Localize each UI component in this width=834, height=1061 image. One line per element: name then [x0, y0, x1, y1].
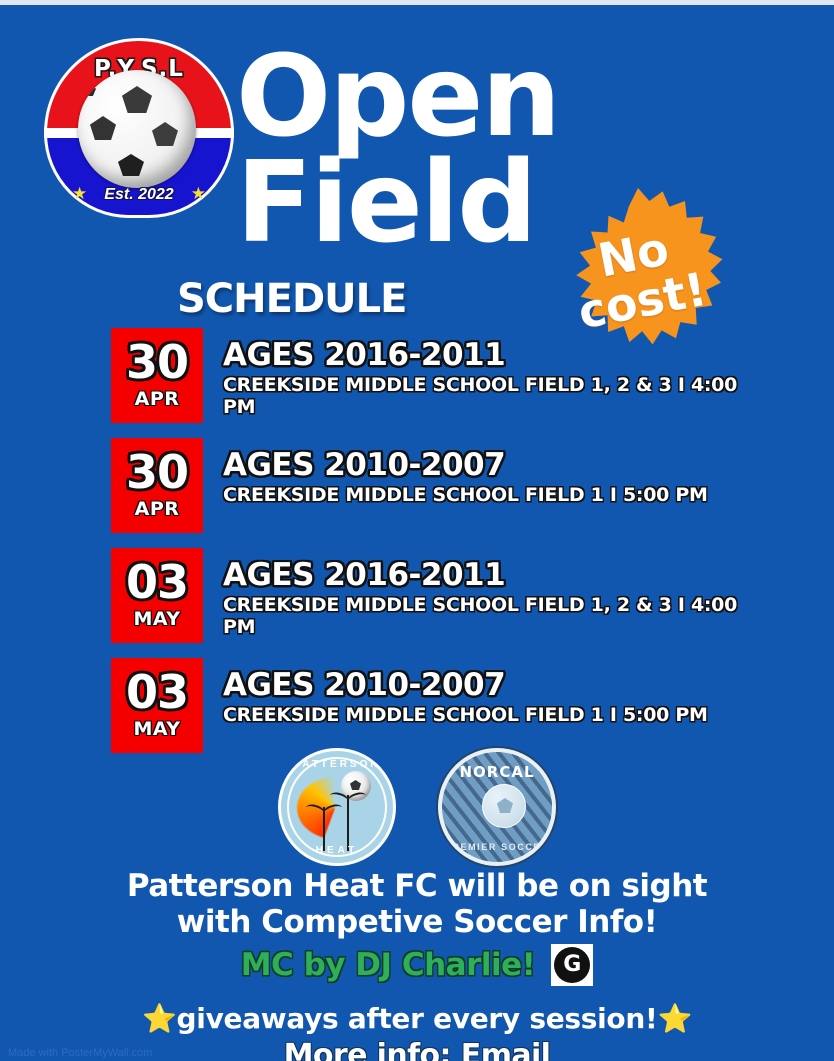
date-day: 30	[126, 451, 188, 495]
footer-line-1: Patterson Heat FC will be on sight	[0, 868, 834, 904]
patterson-heat-logo: PATTERSON HEAT	[278, 748, 396, 866]
watermark-text: Made with PosterMyWall.com	[8, 1047, 152, 1059]
palm-tree-icon	[347, 795, 349, 851]
giveaways-line: ⭐giveaways after every session!⭐	[0, 1002, 834, 1035]
schedule-details: AGES 2016-2011 CREEKSIDE MIDDLE SCHOOL F…	[223, 558, 743, 639]
badge-line-2: cost!	[575, 266, 711, 337]
ball-patch-right	[152, 122, 178, 146]
schedule-details: AGES 2010-2007 CREEKSIDE MIDDLE SCHOOL F…	[223, 448, 743, 507]
crest-established-text: Est. 2022	[44, 186, 234, 204]
club-logos-row: PATTERSON HEAT NORCAL PREMIER SOCCER	[0, 748, 834, 866]
schedule-venue-time: CREEKSIDE MIDDLE SCHOOL FIELD 1, 2 & 3 I…	[223, 595, 743, 639]
norcal-logo-bottom-text: PREMIER SOCCER	[442, 842, 552, 852]
soccer-ball-icon	[482, 784, 526, 828]
date-badge: 03 MAY	[111, 658, 203, 753]
date-month: APR	[135, 388, 180, 410]
schedule-row: 30 APR AGES 2016-2011 CREEKSIDE MIDDLE S…	[111, 328, 751, 423]
schedule-age-group: AGES 2010-2007	[223, 448, 743, 482]
date-month: MAY	[133, 608, 180, 630]
norcal-premier-soccer-logo: NORCAL PREMIER SOCCER	[438, 748, 556, 866]
schedule-row: 30 APR AGES 2010-2007 CREEKSIDE MIDDLE S…	[111, 438, 751, 533]
heat-logo-top-text: PATTERSON	[281, 759, 393, 770]
schedule-age-group: AGES 2016-2011	[223, 338, 743, 372]
schedule-details: AGES 2016-2011 CREEKSIDE MIDDLE SCHOOL F…	[223, 338, 743, 419]
norcal-logo-top-text: NORCAL	[442, 763, 552, 781]
poster-canvas: P.Y.S.L ★ ★ Est. 2022 Open Field No cost…	[0, 0, 834, 1061]
ball-patch-center	[122, 86, 152, 113]
g-monogram-icon: G	[554, 947, 590, 983]
heat-logo-bottom-text: HEAT	[281, 845, 393, 856]
mc-announcement-text: MC by DJ Charlie!	[241, 947, 536, 983]
mc-announcement-row: MC by DJ Charlie! G	[0, 944, 834, 986]
top-edge-strip	[0, 0, 834, 5]
soccer-ball-icon	[78, 70, 196, 188]
pysl-crest-logo: P.Y.S.L ★ ★ Est. 2022	[44, 28, 234, 218]
schedule-venue-time: CREEKSIDE MIDDLE SCHOOL FIELD 1 I 5:00 P…	[223, 485, 743, 507]
dj-charlie-logo: G	[551, 944, 593, 986]
date-day: 03	[126, 671, 188, 715]
date-day: 03	[126, 561, 188, 605]
schedule-age-group: AGES 2016-2011	[223, 558, 743, 592]
schedule-venue-time: CREEKSIDE MIDDLE SCHOOL FIELD 1, 2 & 3 I…	[223, 375, 743, 419]
schedule-row: 03 MAY AGES 2016-2011 CREEKSIDE MIDDLE S…	[111, 548, 751, 643]
date-badge: 03 MAY	[111, 548, 203, 643]
schedule-details: AGES 2010-2007 CREEKSIDE MIDDLE SCHOOL F…	[223, 668, 743, 727]
ball-patch-bottom	[118, 154, 144, 176]
date-day: 30	[126, 341, 188, 385]
footer-section: Patterson Heat FC will be on sight with …	[0, 868, 834, 1061]
date-badge: 30 APR	[111, 438, 203, 533]
schedule-heading: SCHEDULE	[177, 276, 406, 322]
date-month: APR	[135, 498, 180, 520]
schedule-venue-time: CREEKSIDE MIDDLE SCHOOL FIELD 1 I 5:00 P…	[223, 705, 743, 727]
schedule-row: 03 MAY AGES 2010-2007 CREEKSIDE MIDDLE S…	[111, 658, 751, 753]
date-badge: 30 APR	[111, 328, 203, 423]
schedule-list: 30 APR AGES 2016-2011 CREEKSIDE MIDDLE S…	[111, 328, 751, 768]
schedule-age-group: AGES 2010-2007	[223, 668, 743, 702]
ball-patch-left	[90, 116, 116, 140]
date-month: MAY	[133, 718, 180, 740]
footer-line-2: with Competive Soccer Info!	[0, 904, 834, 940]
